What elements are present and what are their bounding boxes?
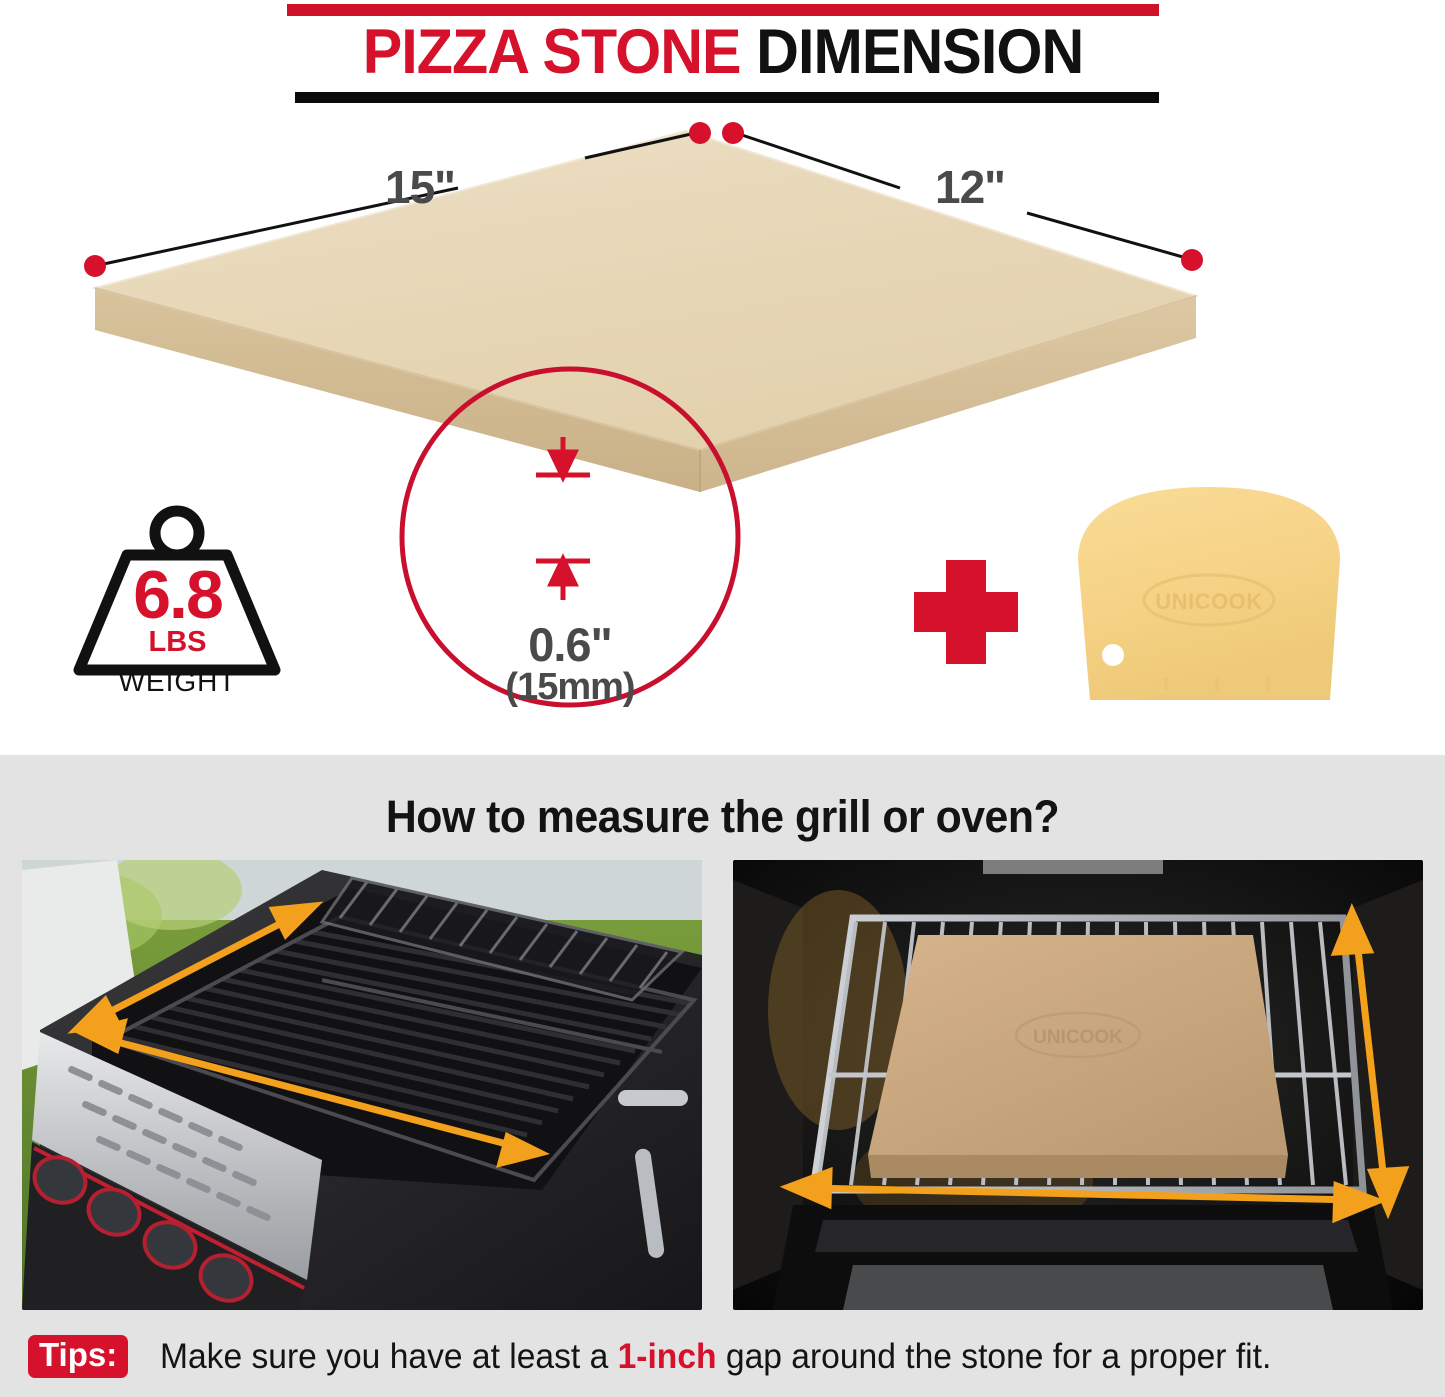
weight-unit: LBS bbox=[70, 628, 285, 657]
oven-pizza-stone: UNICOOK bbox=[868, 935, 1288, 1178]
gas-grill-photo bbox=[22, 860, 702, 1310]
tips-badge: Tips: bbox=[28, 1335, 128, 1378]
tips-row: Tips: Make sure you have at least a 1-in… bbox=[0, 1333, 1445, 1389]
dough-scraper: UNICOOK bbox=[1078, 487, 1340, 700]
tips-text-after: gap around the stone for a proper fit. bbox=[717, 1337, 1272, 1376]
svg-text:UNICOOK: UNICOOK bbox=[1033, 1027, 1123, 1048]
thickness-arrows bbox=[536, 437, 590, 600]
weight-badge: 6.8 LBS WEIGHT bbox=[70, 505, 285, 705]
plus-icon bbox=[914, 560, 1018, 664]
weight-caption: WEIGHT bbox=[70, 668, 285, 696]
svg-text:UNICOOK: UNICOOK bbox=[1155, 589, 1262, 614]
thickness-inch-label: 0.6" bbox=[470, 617, 670, 672]
thickness-mm-label: (15mm) bbox=[470, 666, 670, 709]
weight-value: 6.8 bbox=[70, 561, 285, 629]
dim-endpoint-dot bbox=[722, 122, 744, 144]
length-dimension-label: 15" bbox=[385, 160, 455, 214]
tips-text: Make sure you have at least a 1-inch gap… bbox=[160, 1333, 1271, 1380]
dim-endpoint-dot bbox=[1181, 249, 1203, 271]
tips-text-highlight: 1-inch bbox=[618, 1337, 717, 1376]
dimension-section: PIZZA STONE DIMENSION bbox=[0, 0, 1445, 755]
section-heading: How to measure the grill or oven? bbox=[36, 791, 1409, 843]
oven-photo: UNICOOK bbox=[733, 860, 1423, 1310]
tips-text-before: Make sure you have at least a bbox=[160, 1337, 618, 1376]
scraper-hole bbox=[1102, 644, 1124, 666]
stone-body bbox=[95, 131, 1196, 492]
dim-endpoint-dot bbox=[689, 122, 711, 144]
dim-endpoint-dot bbox=[84, 255, 106, 277]
infographic-page: PIZZA STONE DIMENSION bbox=[0, 0, 1445, 1397]
width-dimension-label: 12" bbox=[935, 160, 1005, 214]
how-to-measure-section: How to measure the grill or oven? bbox=[0, 755, 1445, 1397]
